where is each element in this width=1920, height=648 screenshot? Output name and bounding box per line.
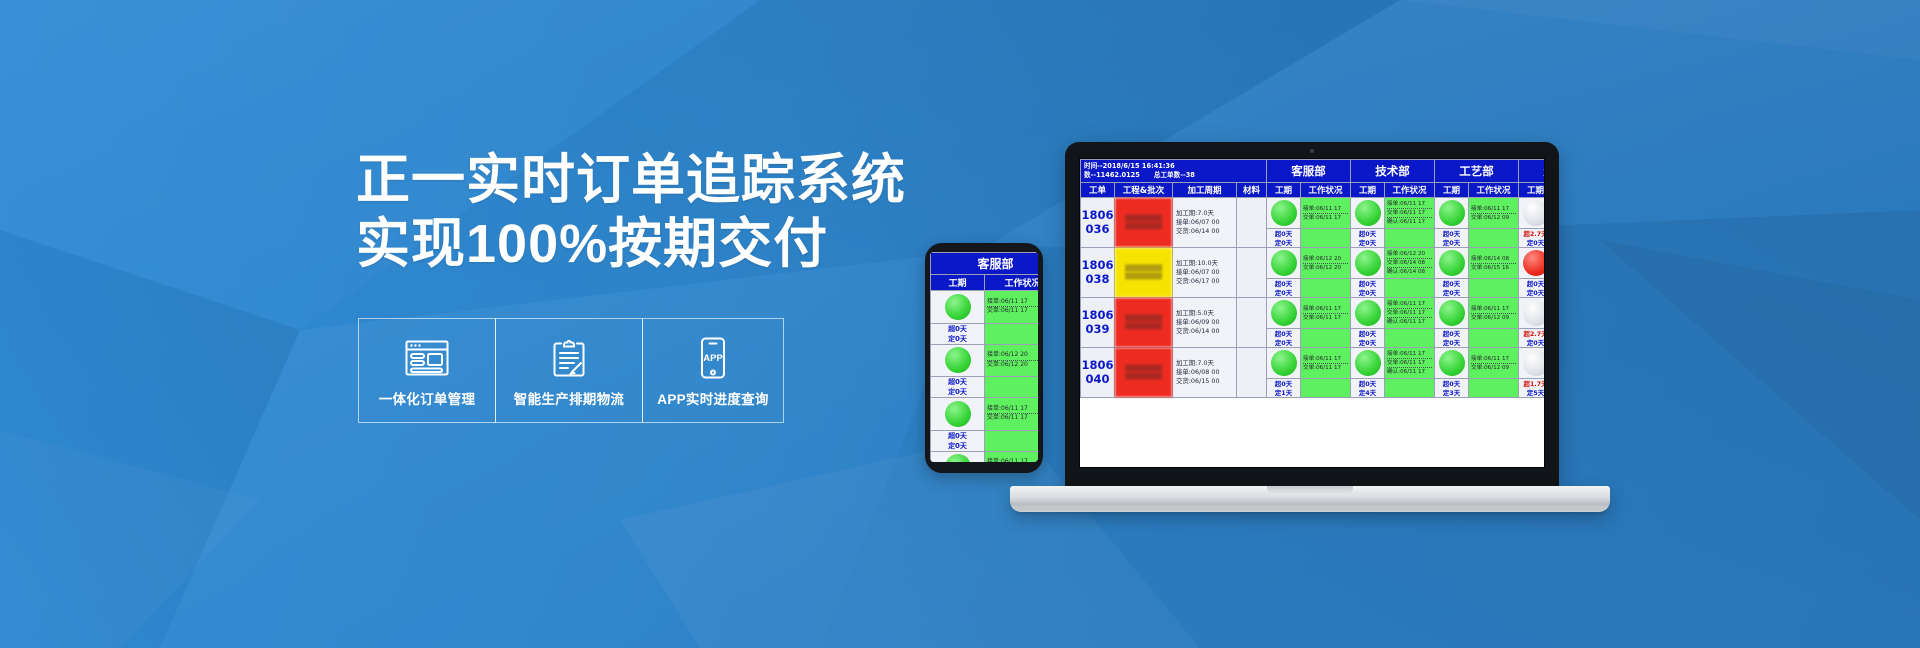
status-line: 交单:06/12 09 [1471,214,1516,222]
status-fill-cell [1385,379,1435,398]
processing-cycle[interactable]: 加工期:5.0天接单:06/09 00交货:06/14 00 [1173,298,1237,348]
status-line: 接单:06/12 20 [1387,250,1432,259]
dashboard-header-row: 时间--2018/6/15 16:41:36数--11462.0125总工单数-… [1081,160,1546,183]
project-batch[interactable]: ▓▓▓▓▓▓▓▓▓▓▓▓▓▓▓▓ [1115,198,1173,248]
received-date: 接单:06/09 00 [1176,318,1233,327]
status-indicator-white[interactable] [1523,350,1545,376]
planned-value: 定0天 [931,441,984,451]
dept-duration-cell[interactable] [1351,248,1385,279]
dept-duration-cell[interactable] [1267,248,1301,279]
overdue-cell: 超0天定4天 [1351,379,1385,398]
table-row[interactable]: 1806040▓▓▓▓▓▓▓▓▓▓▓▓▓▓▓▓加工期:7.0天接单:06/08 … [1081,348,1546,379]
overdue-value: 超0天 [1351,229,1384,238]
meta-time: 时间--2018/6/15 16:41:36 [1084,162,1263,171]
status-fill-cell [1469,379,1519,398]
status-indicator-green[interactable] [1355,250,1381,276]
status-indicator-green[interactable] [945,401,971,427]
overdue-cell: 超0天定0天 [1267,329,1301,348]
status-indicator-green[interactable] [1271,300,1297,326]
status-indicator-green[interactable] [1355,350,1381,376]
dept-status-cell[interactable]: 接单:06/11 17交单:06/11 17确认:06/11 17 [1385,348,1435,379]
planned-value: 定5天 [1519,388,1545,397]
table-row[interactable]: 1806039▓▓▓▓▓▓▓▓▓▓▓▓▓▓▓▓加工期:5.0天接单:06/09 … [1081,298,1546,329]
status-fill-cell [1385,229,1435,248]
due-date: 交货:06/14 00 [1176,327,1233,336]
planned-value: 定0天 [1519,238,1545,247]
dept-header-工艺部[interactable]: 工艺部 [1435,160,1519,183]
processing-cycle[interactable]: 加工期:10.0天接单:06/07 00交货:06/17 00 [1173,248,1237,298]
status-indicator-green[interactable] [1439,300,1465,326]
planned-value: 定0天 [1519,288,1545,297]
project-batch[interactable]: ▓▓▓▓▓▓▓▓▓▓▓▓▓▓▓▓ [1115,348,1173,398]
laptop-screen: 时间--2018/6/15 16:41:36数--11462.0125总工单数-… [1079,158,1545,468]
table-row[interactable]: 1806038▓▓▓▓▓▓▓▓▓▓▓▓▓▓▓▓加工期:10.0天接单:06/07… [1081,248,1546,279]
dept-duration-cell[interactable] [1267,348,1301,379]
hero-copy: 正一实时订单追踪系统 实现100%按期交付 [356,148,956,276]
status-indicator-green[interactable] [1439,250,1465,276]
status-indicator-green[interactable] [1271,350,1297,376]
overdue-cell: 超0天定0天 [1435,279,1469,298]
column-header[interactable]: 工期 [1267,183,1301,198]
dept-duration-cell[interactable] [1435,298,1469,329]
dept-status-cell[interactable]: 接单:06/14 08交单:06/15 16 [1469,248,1519,279]
overdue-value: 超0天 [1351,279,1384,288]
feature-item-order-management[interactable]: 一体化订单管理 [358,318,496,423]
status-indicator-green[interactable] [1271,250,1297,276]
status-indicator-green[interactable] [945,347,971,373]
table-row[interactable]: 1806036▓▓▓▓▓▓▓▓▓▓▓▓▓▓▓▓加工期:7.0天接单:06/07 … [1081,198,1546,229]
status-indicator-green[interactable] [1355,200,1381,226]
due-date: 交货:06/15 00 [1176,377,1233,386]
svg-text:APP: APP [703,353,723,364]
cycle-days: 加工期:7.0天 [1176,209,1233,218]
dept-duration-cell[interactable] [1519,248,1545,279]
status-line: 接单:06/11 17 [1387,200,1432,209]
status-line: 交单:06/11 17 [1303,214,1348,222]
overdue-value: 超0天 [1435,329,1468,338]
overdue-cell: 超0天定0天 [1435,229,1469,248]
column-header[interactable]: 材料 [1237,183,1267,198]
dept-duration-cell[interactable] [931,344,985,377]
status-indicator-green[interactable] [1355,300,1381,326]
column-header[interactable]: 工作状况 [1469,183,1519,198]
dept-header-生产部[interactable]: 生产部 [1519,160,1545,183]
webcam-icon [1310,149,1314,153]
overdue-cell: 超0天定3天 [1435,379,1469,398]
feature-item-app-progress-query[interactable]: APP APP实时进度查询 [642,318,784,423]
dept-duration-cell[interactable] [1351,348,1385,379]
overdue-value: 超0天 [1267,229,1300,238]
cycle-days: 加工期:5.0天 [1176,309,1233,318]
phone-notch [964,243,1004,251]
overdue-value: 超2.7天 [1519,329,1545,338]
dept-status-cell[interactable]: 接单:06/12 20交单:06/12 20 [1301,248,1351,279]
order-number[interactable]: 1806036 [1081,198,1115,248]
status-indicator-green[interactable] [945,454,971,462]
dept-status-cell[interactable]: 接单:06/11 17交单:06/11 17 [1301,198,1351,229]
dept-status-cell[interactable]: 接单:06/11 17交单:06/11 17 [1301,348,1351,379]
dept-status-cell[interactable]: 接单:06/11 17交单:06/11 17确认:06/11 17 [1385,298,1435,329]
overdue-cell: 超0天定0天 [931,430,985,451]
status-fill-cell [1469,329,1519,348]
overdue-value: 超0天 [1351,329,1384,338]
status-line: 交单:06/12 09 [1471,314,1516,322]
meta-counts: 数--11462.0125总工单数--38 [1084,171,1263,180]
planned-value: 定3天 [1435,388,1468,397]
processing-cycle[interactable]: 加工期:7.0天接单:06/07 00交货:06/14 00 [1173,198,1237,248]
overdue-value: 超0天 [931,377,984,387]
feature-label: 一体化订单管理 [379,388,476,408]
dept-duration-cell[interactable] [1435,248,1469,279]
overdue-cell: 超0天定0天 [931,323,985,344]
overdue-cell: 超0天定0天 [931,377,985,398]
overdue-value: 超0天 [1351,379,1384,388]
planned-value: 定1天 [1267,388,1300,397]
planned-value: 定0天 [1351,338,1384,347]
status-indicator-green[interactable] [1439,200,1465,226]
overdue-value: 超0天 [931,431,984,441]
dept-status-cell[interactable]: 接单:06/11 17交单:06/11 17 [1301,298,1351,329]
received-date: 接单:06/08 00 [1176,368,1233,377]
status-line: 交单:06/11 17 [1387,359,1432,368]
dept-status-cell[interactable]: 接单:06/11 17交单:06/12 09 [1469,348,1519,379]
planned-value: 定0天 [1351,238,1384,247]
dept-duration-cell[interactable] [931,398,985,431]
dept-duration-cell[interactable] [1519,348,1545,379]
status-fill-cell [1385,279,1435,298]
overdue-value: 超0天 [1267,329,1300,338]
order-number[interactable]: 1806040 [1081,348,1115,398]
status-line: 交单:06/11 17 [1303,364,1348,372]
overdue-cell: 超2.7天定0天 [1519,229,1545,248]
status-fill-cell [1301,379,1351,398]
overdue-cell: 超0天定0天 [1267,229,1301,248]
planned-value: 定4天 [1351,388,1384,397]
overdue-cell: 超0天定0天 [1351,279,1385,298]
status-line: 确认:06/11 17 [1387,318,1432,326]
column-header[interactable]: 加工周期 [1173,183,1237,198]
column-header[interactable]: 工期 [1519,183,1545,198]
dept-duration-cell[interactable] [931,451,985,462]
project-batch[interactable]: ▓▓▓▓▓▓▓▓▓▓▓▓▓▓▓▓ [1115,298,1173,348]
order-number[interactable]: 1806039 [1081,298,1115,348]
feature-label: APP实时进度查询 [657,388,768,408]
column-header[interactable]: 工程&批次 [1115,183,1173,198]
planned-value: 定0天 [1519,338,1545,347]
status-line: 接单:06/11 17 [1303,355,1348,364]
planned-value: 定0天 [1435,338,1468,347]
material-cell[interactable] [1237,298,1267,348]
overdue-cell: 超0天定0天 [1519,279,1545,298]
status-line: 接单:06/11 17 [1303,205,1348,214]
status-indicator-white[interactable] [1523,300,1545,326]
overdue-cell: 超0天定0天 [1351,229,1385,248]
material-cell[interactable] [1237,198,1267,248]
overdue-value: 超0天 [1435,279,1468,288]
dashboard-meta: 时间--2018/6/15 16:41:36数--11462.0125总工单数-… [1081,160,1267,183]
dashboard-window-icon [405,335,449,381]
overdue-value: 超0天 [1519,279,1545,288]
dashboard-table[interactable]: 时间--2018/6/15 16:41:36数--11462.0125总工单数-… [1080,159,1545,398]
status-line: 接单:06/11 17 [1471,305,1516,314]
planned-value: 定0天 [1435,238,1468,247]
dashboard-subheader-row: 工单工程&批次加工周期材料工期工作状况工期工作状况工期工作状况工期工作状况工期工… [1081,183,1546,198]
planned-value: 定0天 [1267,288,1300,297]
overdue-cell: 超2.7天定0天 [1519,329,1545,348]
planned-value: 定0天 [931,387,984,397]
headline-line-2: 实现100%按期交付 [356,212,956,276]
overdue-value: 超0天 [1435,229,1468,238]
status-line: 交单:06/11 17 [1303,314,1348,322]
column-header[interactable]: 工期 [1435,183,1469,198]
overdue-cell: 超1.7天定5天 [1519,379,1545,398]
overdue-value: 超2.7天 [1519,229,1545,238]
planned-value: 定0天 [1267,338,1300,347]
feature-label: 智能生产排期物流 [514,388,624,408]
received-date: 接单:06/07 00 [1176,218,1233,227]
due-date: 交货:06/14 00 [1176,227,1233,236]
project-batch[interactable]: ▓▓▓▓▓▓▓▓▓▓▓▓▓▓▓▓ [1115,248,1173,298]
column-header[interactable]: 工作状况 [1301,183,1351,198]
status-fill-cell [1469,279,1519,298]
status-fill-cell [1301,279,1351,298]
column-header[interactable]: 工作状况 [1385,183,1435,198]
overdue-value: 超0天 [931,324,984,334]
planned-value: 定0天 [931,334,984,344]
status-line: 确认:06/11 17 [1387,368,1432,376]
feature-item-production-scheduling[interactable]: 智能生产排期物流 [495,318,643,423]
order-number[interactable]: 1806038 [1081,248,1115,298]
status-line: 交单:06/12 20 [1303,264,1348,272]
overdue-cell: 超0天定0天 [1351,329,1385,348]
overdue-cell: 超0天定0天 [1267,279,1301,298]
cycle-days: 加工期:10.0天 [1176,259,1233,268]
status-fill-cell [1385,329,1435,348]
status-line: 接单:06/11 17 [1471,205,1516,214]
material-cell[interactable] [1237,348,1267,398]
planned-value: 定0天 [1435,288,1468,297]
status-line: 接单:06/11 17 [1471,355,1516,364]
feature-list: 一体化订单管理 智能生产排期物流 APP AP [358,318,784,423]
clipboard-pen-icon [550,335,588,381]
due-date: 交货:06/17 00 [1176,277,1233,286]
dept-duration-cell[interactable] [1435,198,1469,229]
dept-duration-cell[interactable] [931,291,985,324]
status-line: 接单:06/11 17 [1387,350,1432,359]
status-indicator-green[interactable] [945,294,971,320]
dept-status-cell[interactable]: 接单:06/11 17交单:06/11 17确认:06/11 17 [1385,198,1435,229]
overdue-cell: 超0天定1天 [1267,379,1301,398]
status-line: 交单:06/11 17 [1387,309,1432,318]
dept-duration-cell[interactable] [1519,298,1545,329]
dept-status-cell[interactable]: 接单:06/11 17交单:06/12 09 [1469,298,1519,329]
status-line: 确认:06/11 17 [1387,218,1432,226]
status-line: 接单:06/14 08 [1471,255,1516,264]
planned-value: 定0天 [1351,288,1384,297]
column-header[interactable]: 工单 [1081,183,1115,198]
mobile-app-icon: APP [698,335,728,381]
overdue-value: 超1.7天 [1519,379,1545,388]
status-fill-cell [1301,229,1351,248]
status-fill-cell [1301,329,1351,348]
laptop-lid: 时间--2018/6/15 16:41:36数--11462.0125总工单数-… [1065,142,1559,490]
laptop-base-notch [1267,486,1353,495]
status-indicator-green[interactable] [1271,200,1297,226]
column-header[interactable]: 工期 [931,275,985,291]
overdue-value: 超0天 [1267,379,1300,388]
material-cell[interactable] [1237,248,1267,298]
status-line: 交单:06/15 16 [1471,264,1516,272]
dept-duration-cell[interactable] [1267,198,1301,229]
status-line: 接单:06/11 17 [1387,300,1432,309]
headline-line-1: 正一实时订单追踪系统 [356,148,956,212]
processing-cycle[interactable]: 加工期:7.0天接单:06/08 00交货:06/15 00 [1173,348,1237,398]
status-line: 交单:06/12 09 [1471,364,1516,372]
dept-duration-cell[interactable] [1519,198,1545,229]
status-indicator-white[interactable] [1523,200,1545,226]
column-header[interactable]: 工期 [1351,183,1385,198]
status-line: 交单:06/11 17 [1387,209,1432,218]
cycle-days: 加工期:7.0天 [1176,359,1233,368]
dept-status-cell[interactable]: 接单:06/11 17交单:06/12 09 [1469,198,1519,229]
planned-value: 定0天 [1267,238,1300,247]
dept-duration-cell[interactable] [1351,198,1385,229]
laptop-base-shadow [1014,508,1606,514]
status-indicator-red[interactable] [1523,250,1545,276]
status-fill-cell [1469,229,1519,248]
order-tracking-dashboard[interactable]: 时间--2018/6/15 16:41:36数--11462.0125总工单数-… [1080,159,1545,398]
laptop-mockup: 时间--2018/6/15 16:41:36数--11462.0125总工单数-… [1010,142,1610,522]
dept-header-技术部[interactable]: 技术部 [1351,160,1435,183]
status-line: 接单:06/11 17 [1303,305,1348,314]
status-indicator-green[interactable] [1439,350,1465,376]
laptop-base [1010,486,1610,512]
dept-duration-cell[interactable] [1351,298,1385,329]
dept-status-cell[interactable]: 接单:06/12 20交单:06/14 08确认:06/14 08 [1385,248,1435,279]
dept-duration-cell[interactable] [1267,298,1301,329]
overdue-value: 超0天 [1267,279,1300,288]
status-line: 接单:06/12 20 [1303,255,1348,264]
dept-duration-cell[interactable] [1435,348,1469,379]
dept-header-客服部[interactable]: 客服部 [1267,160,1351,183]
overdue-value: 超0天 [1435,379,1468,388]
status-line: 交单:06/14 08 [1387,259,1432,268]
overdue-cell: 超0天定0天 [1435,329,1469,348]
status-line: 确认:06/14 08 [1387,268,1432,276]
received-date: 接单:06/07 00 [1176,268,1233,277]
